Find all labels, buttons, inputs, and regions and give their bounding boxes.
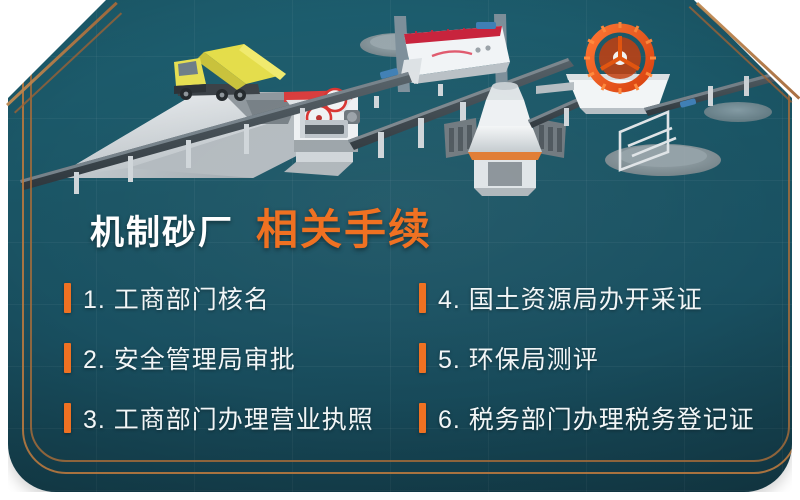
list-item-label: 5. 环保局测评 [438, 340, 599, 376]
list-item[interactable]: 1. 工商部门核名 [64, 280, 419, 316]
bullet-bar-icon [419, 403, 426, 433]
list-item-label: 2. 安全管理局审批 [83, 340, 296, 376]
poster-root: 机制砂厂 相关手续 1. 工商部门核名 4. 国土资源局办开采证 2. 安全管理… [0, 0, 800, 500]
vibrating-screen [394, 14, 510, 96]
procedure-list: 1. 工商部门核名 4. 国土资源局办开采证 2. 安全管理局审批 5. 环保局… [64, 268, 764, 448]
production-line-illustration [8, 0, 792, 200]
list-item-label: 6. 税务部门办理税务登记证 [438, 400, 755, 436]
list-item[interactable]: 5. 环保局测评 [419, 340, 764, 376]
list-item[interactable]: 4. 国土资源局办开采证 [419, 280, 764, 316]
title-accent: 相关手续 [256, 196, 432, 257]
list-item[interactable]: 2. 安全管理局审批 [64, 340, 419, 376]
list-item[interactable]: 6. 税务部门办理税务登记证 [419, 400, 764, 436]
bullet-bar-icon [64, 283, 71, 313]
list-item-label: 1. 工商部门核名 [83, 280, 270, 316]
bullet-bar-icon [419, 343, 426, 373]
poster-panel: 机制砂厂 相关手续 1. 工商部门核名 4. 国土资源局办开采证 2. 安全管理… [8, 0, 792, 492]
title-main: 机制砂厂 [90, 205, 234, 254]
bullet-bar-icon [419, 283, 426, 313]
list-item[interactable]: 3. 工商部门办理营业执照 [64, 400, 419, 436]
list-item-label: 3. 工商部门办理营业执照 [83, 400, 374, 436]
page-title: 机制砂厂 相关手续 [90, 196, 432, 257]
bullet-bar-icon [64, 403, 71, 433]
list-item-label: 4. 国土资源局办开采证 [438, 280, 703, 316]
bullet-bar-icon [64, 343, 71, 373]
